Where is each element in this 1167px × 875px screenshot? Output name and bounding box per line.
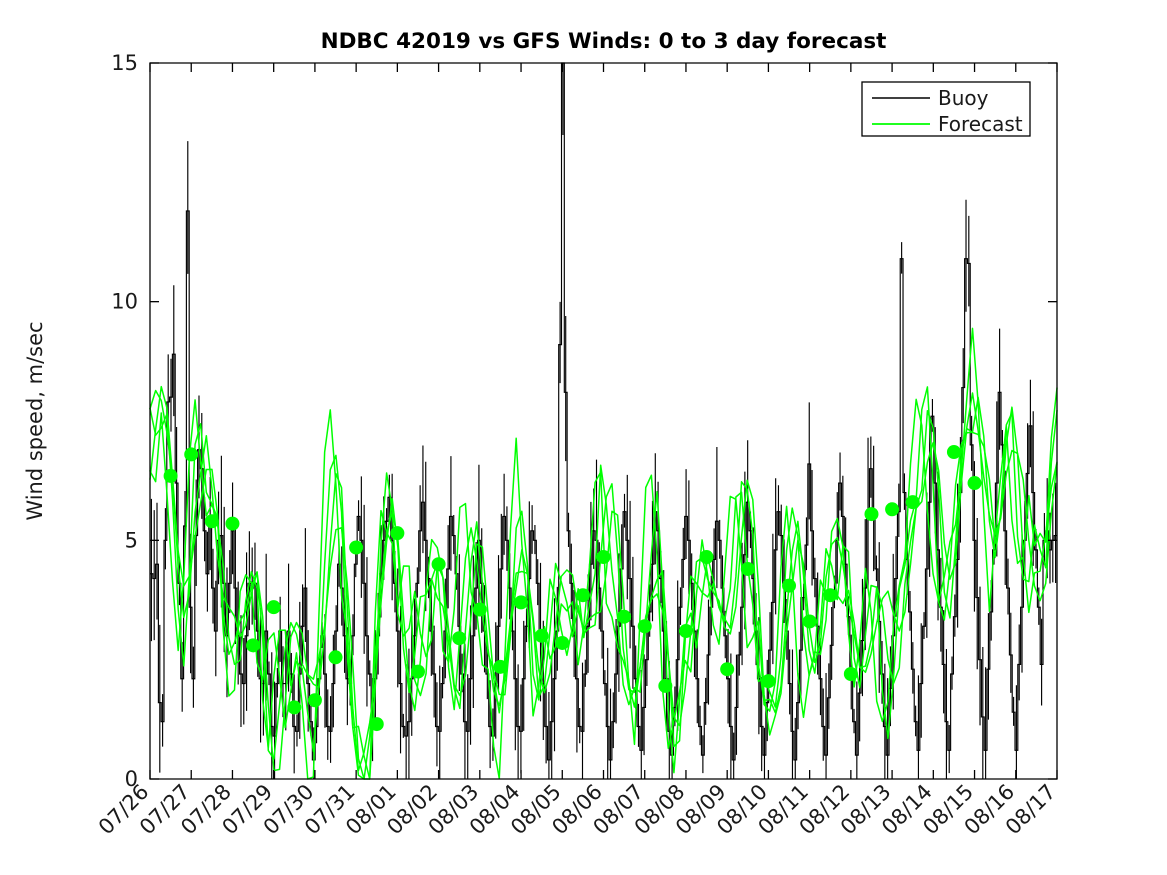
forecast-marker <box>761 674 775 688</box>
forecast-marker <box>555 636 569 650</box>
forecast-marker <box>700 550 714 564</box>
forecast-marker <box>968 476 982 490</box>
forecast-marker <box>720 662 734 676</box>
forecast-marker <box>390 526 404 540</box>
forecast-marker <box>906 495 920 509</box>
legend: BuoyForecast <box>862 82 1030 136</box>
forecast-marker <box>370 717 384 731</box>
forecast-marker <box>597 550 611 564</box>
y-tick-label: 5 <box>125 528 138 552</box>
y-tick-label: 10 <box>111 290 138 314</box>
forecast-marker <box>267 600 281 614</box>
forecast-marker <box>658 679 672 693</box>
forecast-marker <box>205 514 219 528</box>
forecast-marker <box>432 557 446 571</box>
forecast-marker <box>864 507 878 521</box>
forecast-marker <box>679 624 693 638</box>
forecast-marker <box>349 540 363 554</box>
forecast-marker <box>782 579 796 593</box>
forecast-marker <box>287 700 301 714</box>
forecast-marker <box>576 588 590 602</box>
forecast-marker <box>535 629 549 643</box>
forecast-marker <box>246 638 260 652</box>
forecast-marker <box>741 562 755 576</box>
figure-container: 05101507/2607/2707/2807/2907/3007/3108/0… <box>0 0 1167 875</box>
legend-label-forecast: Forecast <box>938 112 1023 136</box>
forecast-marker <box>514 595 528 609</box>
forecast-marker <box>947 445 961 459</box>
y-axis-label: Wind speed, m/sec <box>23 321 47 520</box>
forecast-marker <box>803 614 817 628</box>
forecast-marker <box>844 667 858 681</box>
forecast-marker <box>473 603 487 617</box>
forecast-marker <box>308 693 322 707</box>
forecast-marker <box>885 502 899 516</box>
forecast-marker <box>493 660 507 674</box>
forecast-marker <box>452 631 466 645</box>
forecast-marker <box>411 665 425 679</box>
legend-label-buoy: Buoy <box>938 86 989 110</box>
forecast-marker <box>184 447 198 461</box>
forecast-marker <box>617 610 631 624</box>
y-tick-label: 15 <box>111 51 138 75</box>
forecast-marker <box>164 469 178 483</box>
forecast-marker <box>225 517 239 531</box>
chart-title: NDBC 42019 vs GFS Winds: 0 to 3 day fore… <box>321 29 887 54</box>
forecast-marker <box>638 619 652 633</box>
forecast-marker <box>329 650 343 664</box>
forecast-marker <box>823 588 837 602</box>
wind-speed-chart: 05101507/2607/2707/2807/2907/3007/3108/0… <box>0 0 1167 875</box>
